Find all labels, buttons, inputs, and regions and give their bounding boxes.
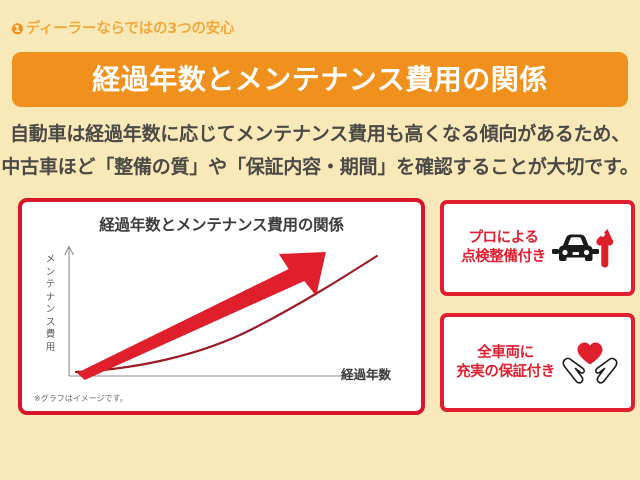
lead-line-1: 自動車は経過年数に応じてメンテナンス費用も高くなる傾向があるため、 [0,118,640,151]
chart-y-axis [65,247,74,377]
feature-card-warranty[interactable]: 全車両に 充実の保証付き [440,313,635,412]
banner-title: 経過年数とメンテナンス費用の関係 [92,66,547,94]
eyebrow-label: ディーラーならではの3つの安心 [26,22,235,37]
chart-footnote: ※グラフはイメージです。 [34,393,128,404]
section-eyebrow: ❶ ディーラーならではの3つの安心 [11,22,234,37]
section-banner: 経過年数とメンテナンス費用の関係 [12,52,628,107]
chart-title: 経過年数とメンテナンス費用の関係 [22,213,421,235]
hands-heart-icon [561,340,619,386]
car-wrench-icon [552,227,614,269]
feature-card-1-line-2: 点検整備付き [461,248,546,267]
chart-x-axis-label: 経過年数 [341,364,391,383]
feature-card-inspection[interactable]: プロによる 点検整備付き [440,200,635,296]
feature-card-1-text: プロによる 点検整備付き [461,229,546,267]
feature-card-2-text: 全車両に 充実の保証付き [456,344,555,382]
chart-trend-arrow [77,252,326,380]
feature-card-2-line-1: 全車両に [456,344,555,363]
chart-card: 経過年数とメンテナンス費用の関係 メンテナンス費用 経過年数 ※グラフはイメージ… [18,198,425,415]
step-number-badge: ❶ [11,22,24,37]
lead-line-2: 中古車ほど「整備の質」や「保証内容・期間」を確認することが大切です。 [0,151,640,184]
lead-paragraph: 自動車は経過年数に応じてメンテナンス費用も高くなる傾向があるため、 中古車ほど「… [0,118,640,184]
feature-card-2-line-2: 充実の保証付き [456,363,555,382]
feature-card-1-line-1: プロによる [461,229,546,248]
